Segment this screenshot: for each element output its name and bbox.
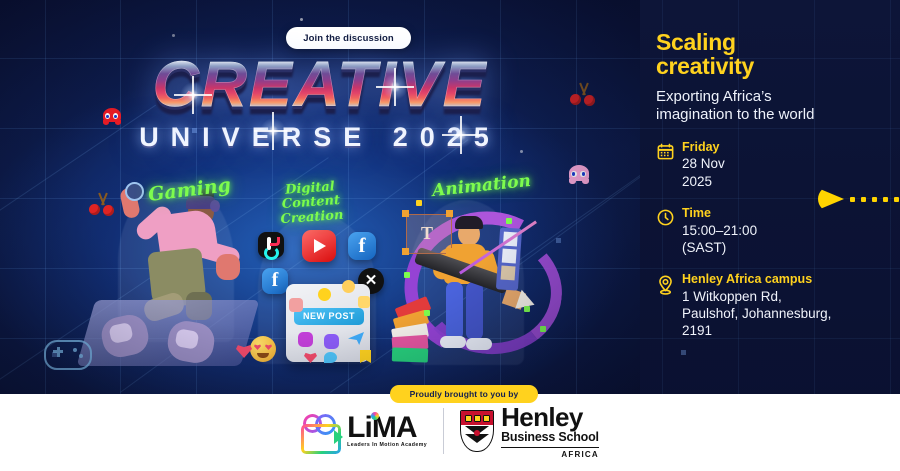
lima-tagline: Leaders In Motion Academy bbox=[347, 442, 427, 448]
join-discussion-badge[interactable]: Join the discussion bbox=[286, 27, 411, 49]
henley-subtitle: Business School bbox=[501, 431, 599, 448]
location-label: Henley Africa campus bbox=[682, 272, 892, 288]
subheadline-line-2: imagination to the world bbox=[656, 106, 814, 123]
event-poster: f f ✕ NEW POST bbox=[0, 0, 900, 471]
time-value-line-2: (SAST) bbox=[682, 239, 892, 256]
poster-title-block: CREATIVE UNIVERSE 2025 bbox=[0, 52, 640, 153]
lima-wordmark: LiMA bbox=[347, 414, 427, 441]
title-universe-year: UNIVERSE 2025 bbox=[0, 122, 640, 153]
headline-line-1: Scaling bbox=[656, 29, 736, 55]
category-label-digital-content-creation: Digital Content Creation bbox=[264, 179, 359, 228]
speck bbox=[681, 350, 686, 355]
subheadline-line-1: Exporting Africa’s bbox=[656, 88, 772, 105]
location-value-line-3: 2191 bbox=[682, 322, 892, 339]
detail-row-date: Friday 28 Nov 2025 bbox=[656, 140, 892, 190]
time-value-line-1: 15:00–21:00 bbox=[682, 222, 892, 239]
clock-icon bbox=[656, 206, 682, 256]
henley-crest-icon bbox=[460, 410, 494, 452]
title-creative: CREATIVE bbox=[153, 52, 488, 116]
time-label: Time bbox=[682, 206, 892, 222]
subheadline: Exporting Africa’s imagination to the wo… bbox=[656, 88, 892, 124]
pacman-icon bbox=[818, 186, 844, 212]
date-value-line-2: 2025 bbox=[682, 173, 892, 190]
pacman-sprite bbox=[818, 186, 844, 212]
location-pin-icon bbox=[656, 272, 682, 339]
detail-row-location: Henley Africa campus 1 Witkoppen Rd, Pau… bbox=[656, 272, 892, 339]
detail-row-time: Time 15:00–21:00 (SAST) bbox=[656, 206, 892, 256]
calendar-icon bbox=[656, 140, 682, 190]
film-camera-icon bbox=[301, 414, 343, 448]
logo-divider bbox=[443, 408, 444, 454]
event-details-content: Scaling creativity Exporting Africa’s im… bbox=[656, 30, 892, 339]
headline-line-2: creativity bbox=[656, 53, 754, 79]
henley-region: AFRICA bbox=[501, 451, 599, 459]
date-value-line-1: 28 Nov bbox=[682, 155, 892, 172]
sponsor-logos: LiMA Leaders In Motion Academy Henley Bu… bbox=[0, 404, 900, 459]
henley-name: Henley bbox=[501, 404, 599, 430]
henley-logo[interactable]: Henley Business School AFRICA bbox=[460, 404, 599, 459]
brought-to-you-by-badge: Proudly brought to you by bbox=[390, 385, 538, 403]
headline: Scaling creativity bbox=[656, 30, 892, 79]
location-value-line-1: 1 Witkoppen Rd, bbox=[682, 288, 892, 305]
date-label: Friday bbox=[682, 140, 892, 156]
location-value-line-2: Paulshof, Johannesburg, bbox=[682, 305, 892, 322]
lima-logo[interactable]: LiMA Leaders In Motion Academy bbox=[301, 414, 427, 448]
